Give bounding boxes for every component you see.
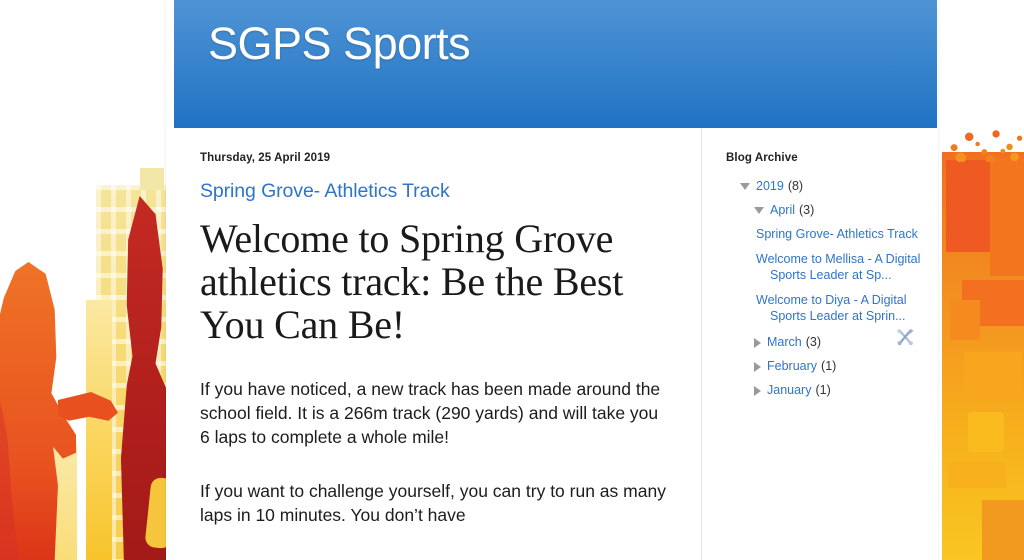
archive-month-row-january[interactable]: January (1): [726, 383, 924, 399]
art-orange-block-2: [990, 158, 1024, 276]
chevron-right-icon-march[interactable]: [754, 338, 761, 348]
post-paragraph-2: If you want to challenge yourself, you c…: [200, 479, 671, 527]
chevron-down-icon-year[interactable]: [740, 183, 750, 190]
archive-month-count-february: (1): [821, 359, 836, 375]
site-content-wrapper: SGPS Sports Thursday, 25 April 2019 Spri…: [166, 0, 938, 560]
archive-year-link[interactable]: 2019: [756, 179, 784, 195]
blog-archive-widget-title: Blog Archive: [726, 152, 924, 164]
archive-month-link-january[interactable]: January: [767, 383, 811, 399]
art-orange-block-7: [948, 462, 1006, 488]
art-building-rooftop: [140, 168, 164, 190]
post-title-link[interactable]: Spring Grove- Athletics Track: [200, 180, 671, 203]
chevron-down-icon-april[interactable]: [754, 207, 764, 214]
art-orange-block-4: [950, 300, 980, 340]
archive-month-count-april: (3): [799, 203, 814, 219]
archive-month-link-february[interactable]: February: [767, 359, 817, 375]
content-columns: Thursday, 25 April 2019 Spring Grove- At…: [166, 128, 938, 560]
right-decorative-artwork: [938, 0, 1024, 560]
archive-month-link-april[interactable]: April: [770, 203, 795, 219]
archive-month-row-april[interactable]: April (3): [726, 203, 924, 219]
sidebar: Blog Archive 2019 (8) April (3) Spring G…: [701, 128, 938, 560]
archive-post-link[interactable]: Welcome to Diya - A Digital Sports Leade…: [726, 292, 924, 324]
wrench-screwdriver-icon[interactable]: [894, 326, 916, 348]
art-orange-block-1: [946, 160, 990, 252]
art-orange-block-8: [982, 500, 1024, 560]
main-content-column: Thursday, 25 April 2019 Spring Grove- At…: [166, 128, 701, 560]
archive-month-count-january: (1): [815, 383, 830, 399]
art-orange-block-6: [968, 412, 1004, 452]
post-heading: Welcome to Spring Grove athletics track:…: [200, 217, 671, 347]
archive-post-link[interactable]: Welcome to Mellisa - A Digital Sports Le…: [726, 251, 924, 283]
chevron-right-icon-january[interactable]: [754, 386, 761, 396]
archive-month-count-march: (3): [806, 335, 821, 351]
post-date: Thursday, 25 April 2019: [200, 152, 671, 164]
archive-post-link[interactable]: Spring Grove- Athletics Track: [726, 226, 924, 242]
archive-year-count: (8): [788, 179, 803, 195]
archive-post-list: Spring Grove- Athletics Track Welcome to…: [726, 226, 924, 324]
archive-month-link-march[interactable]: March: [767, 335, 802, 351]
site-header-banner: SGPS Sports: [174, 0, 937, 128]
art-orange-block-5: [964, 352, 1022, 400]
archive-year-row[interactable]: 2019 (8): [726, 179, 924, 195]
post-paragraph-1: If you have noticed, a new track has bee…: [200, 377, 671, 449]
archive-month-row-february[interactable]: February (1): [726, 359, 924, 375]
chevron-right-icon-february[interactable]: [754, 362, 761, 372]
left-decorative-artwork: [0, 0, 168, 560]
art-paint-splatter: [944, 126, 1024, 162]
site-title[interactable]: SGPS Sports: [208, 18, 470, 70]
art-building-slim-yellow: [86, 300, 112, 560]
